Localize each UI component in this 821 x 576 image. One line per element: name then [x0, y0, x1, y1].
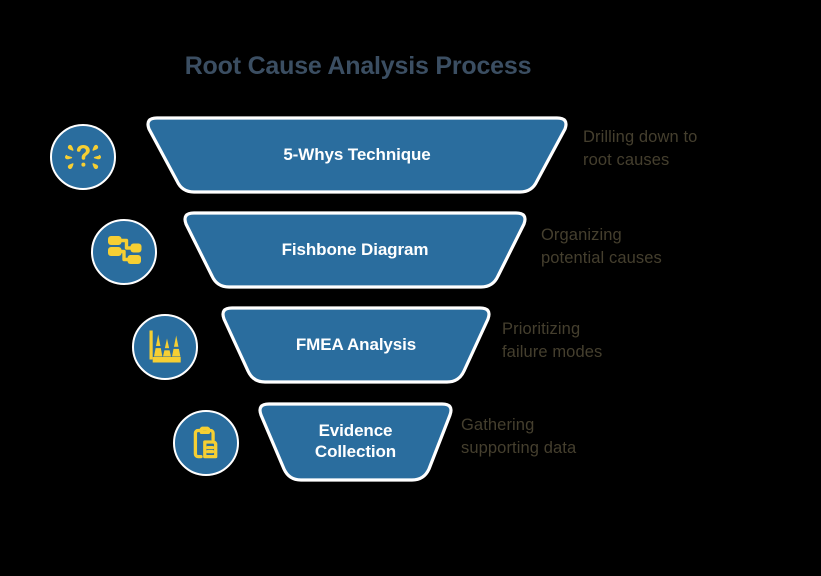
funnel-segment-shape-1 — [148, 118, 566, 192]
spike-chart-icon — [144, 326, 186, 368]
step-icon-badge-3[interactable] — [132, 314, 198, 380]
clipboard-document-icon — [185, 422, 227, 464]
funnel-segment-shape-4 — [260, 404, 451, 480]
funnel-diagram-canvas: Root Cause Analysis Process — [0, 0, 821, 576]
funnel-description-4: Gathering supporting data — [461, 414, 711, 460]
funnel-segment-2[interactable]: Fishbone Diagram — [180, 211, 530, 289]
step-icon-badge-4[interactable] — [173, 410, 239, 476]
page-title: Root Cause Analysis Process — [0, 52, 716, 81]
funnel-segment-shape-2 — [185, 213, 525, 287]
funnel-description-3: Prioritizing failure modes — [502, 318, 752, 364]
funnel-segment-shape-3 — [223, 308, 489, 382]
flowchart-nodes-icon — [103, 231, 145, 273]
question-brainstorm-icon — [61, 135, 105, 179]
step-icon-badge-2[interactable] — [91, 219, 157, 285]
step-icon-badge-1[interactable] — [50, 124, 116, 190]
funnel-description-1: Drilling down to root causes — [583, 126, 813, 172]
funnel-segment-3[interactable]: FMEA Analysis — [218, 306, 494, 384]
funnel-segment-1[interactable]: 5-Whys Technique — [143, 116, 571, 194]
funnel-description-2: Organizing potential causes — [541, 224, 791, 270]
funnel-segment-4[interactable]: Evidence Collection — [255, 402, 456, 482]
